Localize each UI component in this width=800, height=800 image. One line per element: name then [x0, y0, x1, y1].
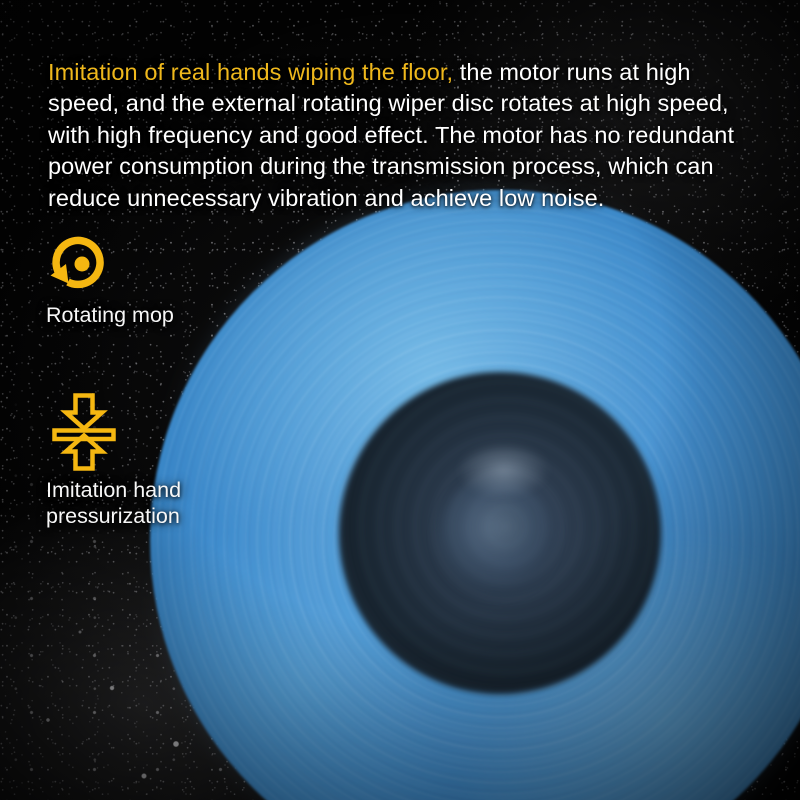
- feature-rotating-mop-label: Rotating mop: [46, 303, 174, 327]
- product-feature-image: Imitation of real hands wiping the floor…: [0, 0, 800, 800]
- feature-hand-pressurization-label: Imitation hand pressurization: [46, 478, 181, 528]
- motor-hub-glint: [458, 442, 549, 498]
- feature-rotating-mop: Rotating mop: [46, 231, 174, 328]
- headline-accent: Imitation of real hands wiping the floor…: [48, 59, 453, 85]
- page-title: Imitation of real hands wiping the floor…: [48, 57, 760, 215]
- rotating-arrow-icon: [46, 231, 174, 302]
- compression-arrows-icon: [46, 392, 181, 477]
- feature-hand-pressurization: Imitation hand pressurization: [46, 392, 181, 529]
- spinning-mop-disc: [150, 190, 800, 800]
